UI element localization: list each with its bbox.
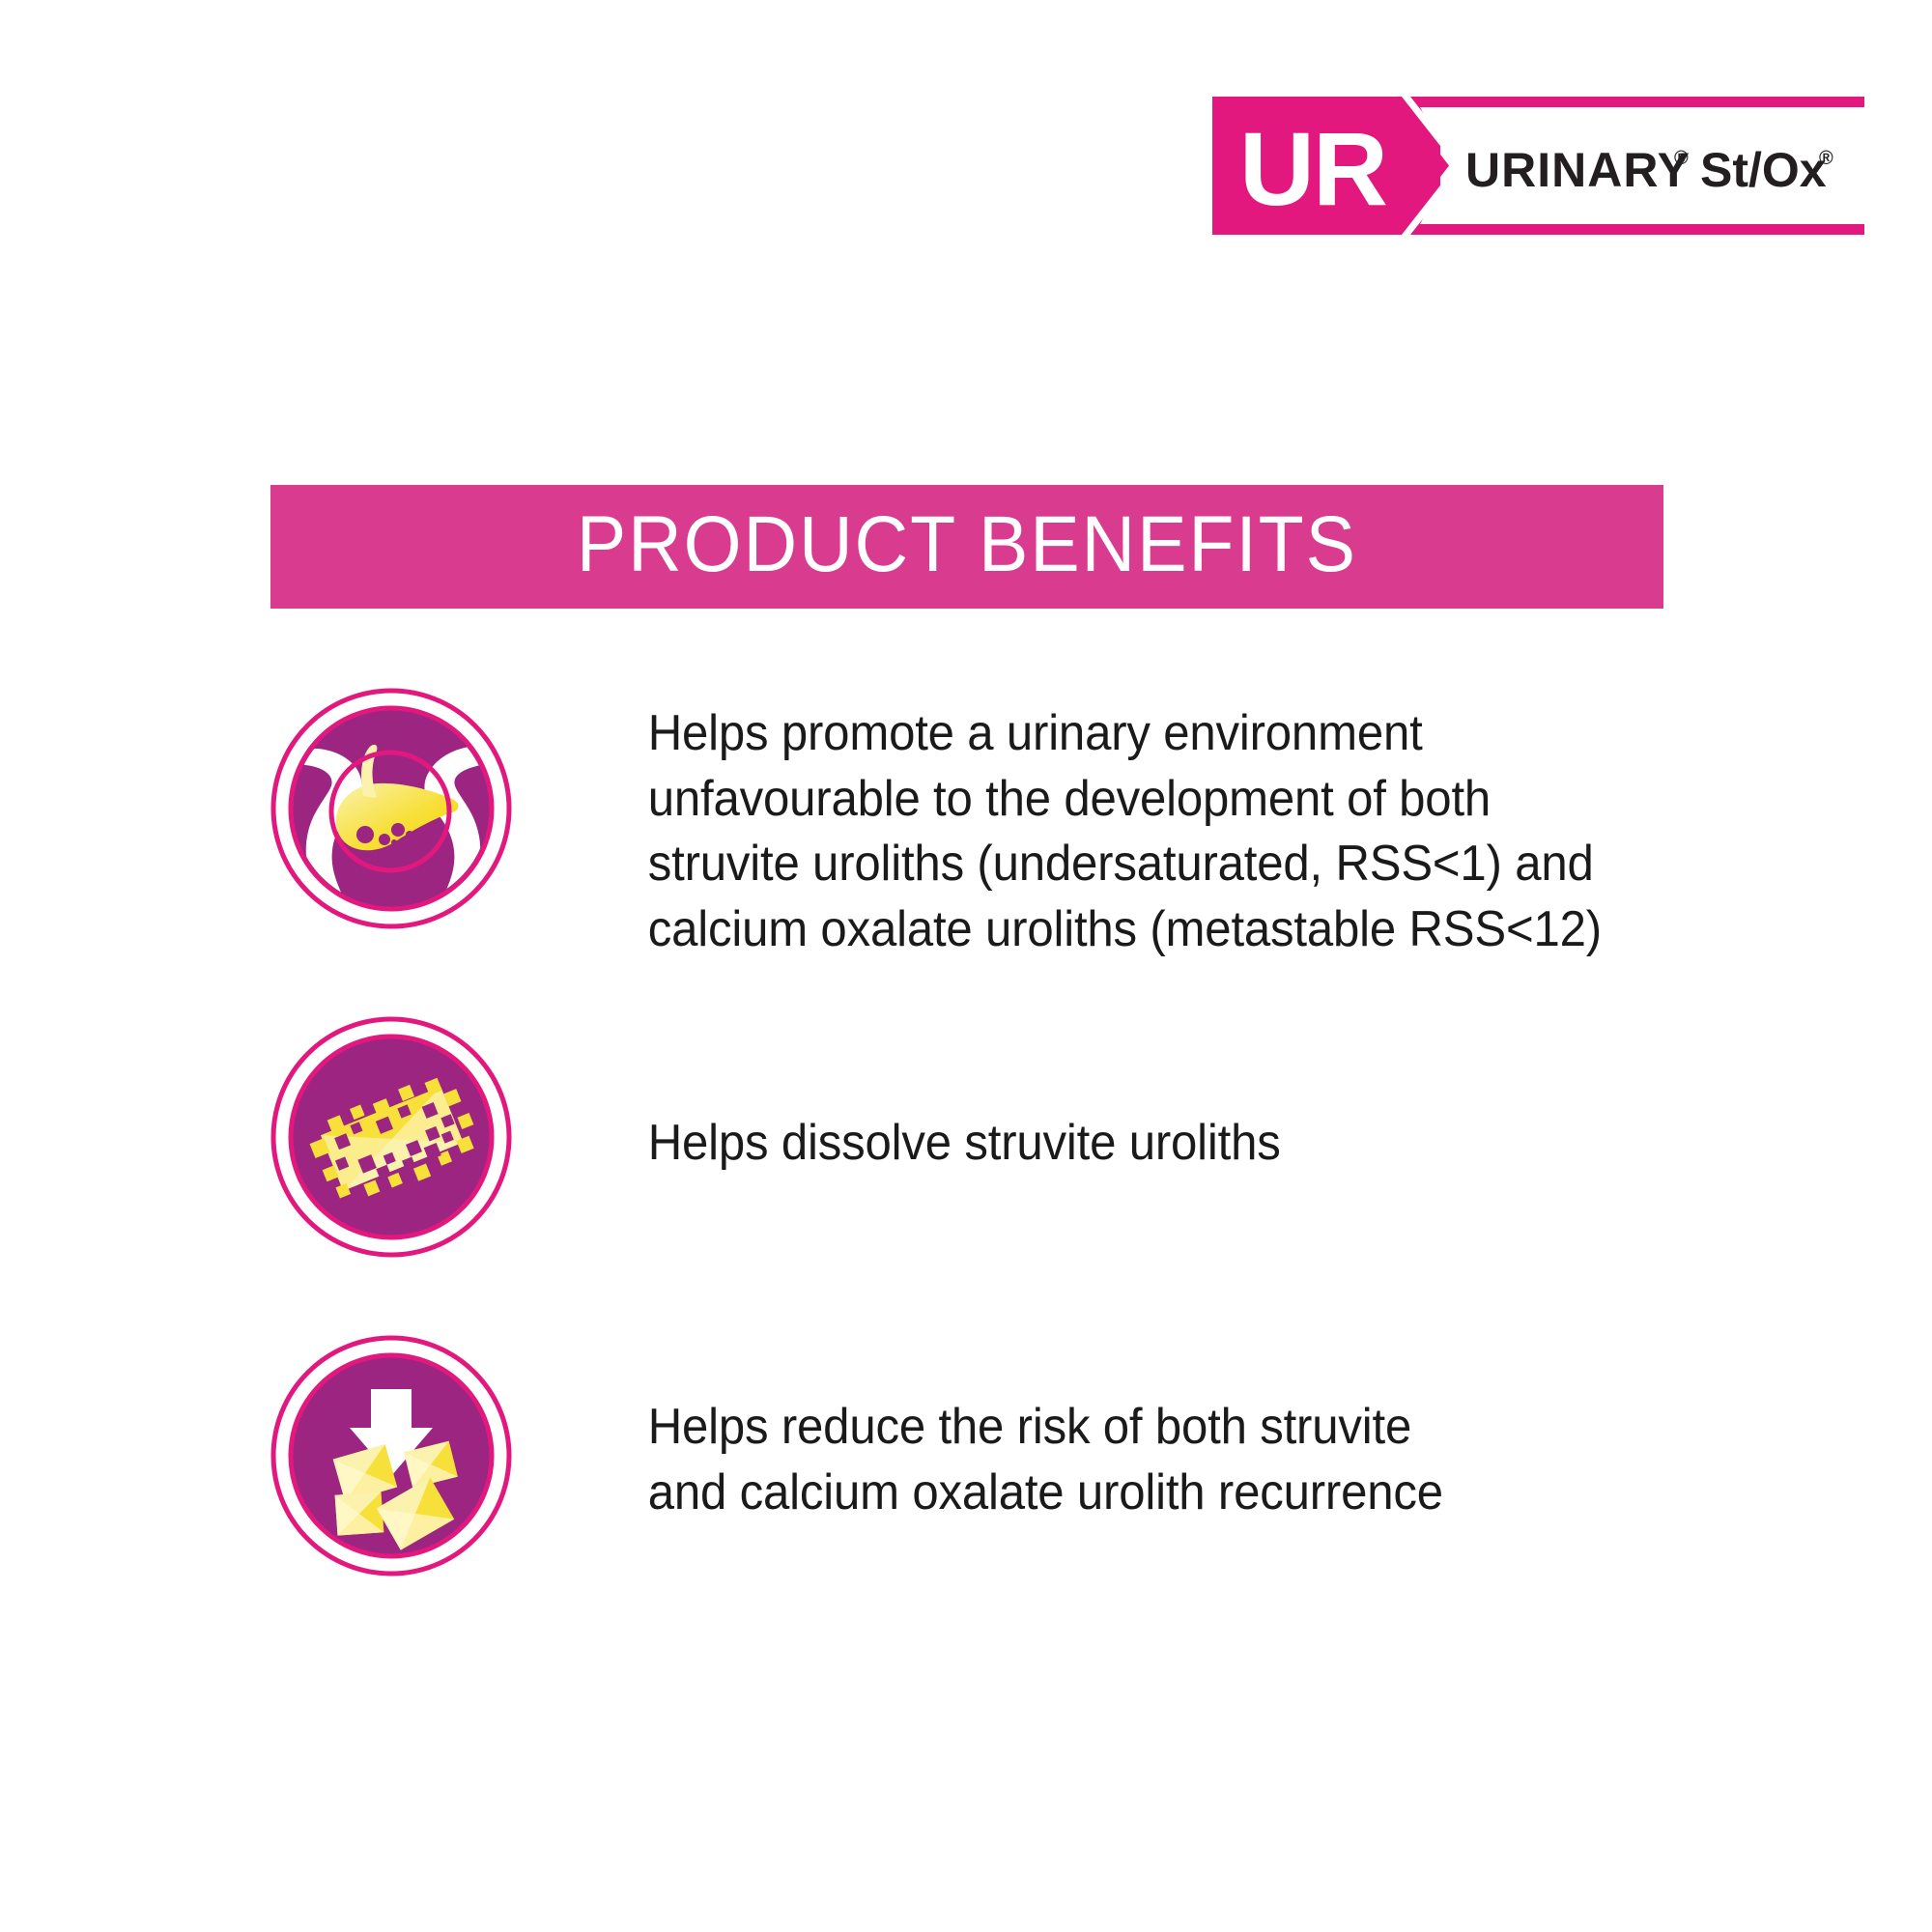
benefit-icon-container: [270, 1335, 560, 1577]
benefit-text-container: Helps dissolve struvite uroliths: [560, 1016, 1674, 1177]
dissolving-struvite-urolith-icon: [270, 1016, 512, 1258]
benefit-text: Helps promote a urinary environment unfa…: [648, 701, 1674, 962]
down-arrow-crystals-icon: [270, 1335, 512, 1577]
benefit-text-container: Helps promote a urinary environment unfa…: [560, 688, 1674, 962]
benefits-list: Helps promote a urinary environment unfa…: [0, 0, 1932, 1932]
benefit-item: Helps promote a urinary environment unfa…: [270, 688, 1739, 962]
benefit-text-container: Helps reduce the risk of both struvite a…: [560, 1335, 1674, 1525]
benefit-text: Helps reduce the risk of both struvite a…: [648, 1395, 1674, 1525]
bladder-uroliths-magnifier-icon: [270, 688, 512, 929]
benefit-item: Helps dissolve struvite uroliths: [270, 1016, 1739, 1258]
benefit-icon-container: [270, 1016, 560, 1258]
benefit-item: Helps reduce the risk of both struvite a…: [270, 1335, 1739, 1577]
benefit-icon-container: [270, 688, 560, 929]
benefit-text: Helps dissolve struvite uroliths: [648, 1111, 1674, 1177]
